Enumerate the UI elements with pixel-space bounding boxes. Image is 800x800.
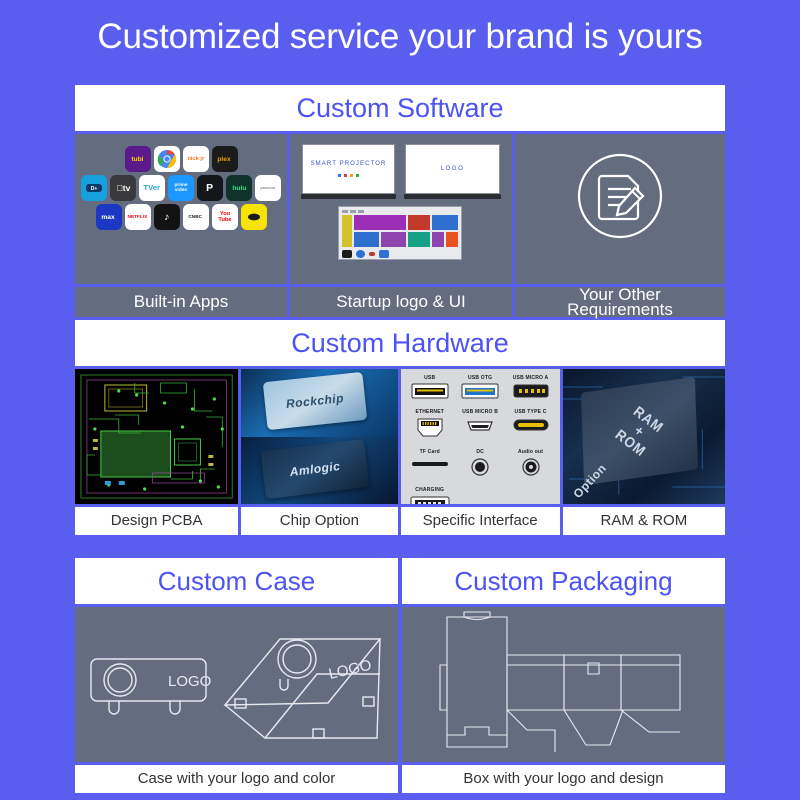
pcb-schematic	[75, 369, 238, 504]
dc-jack-icon	[469, 457, 491, 482]
ui-tile	[432, 215, 458, 230]
section-custom-software: Custom Software tubi	[75, 85, 725, 317]
chip-photo-rockchip: Rockchip	[241, 369, 397, 437]
usb-a-port-icon	[411, 383, 449, 404]
startup-screen-logo: LOGO	[405, 144, 500, 194]
ui-titlebar	[342, 210, 458, 213]
caption-built-in-apps: Built-in Apps	[75, 287, 287, 317]
ui-tile	[408, 215, 430, 230]
interface-row-1: USB USB OTG	[405, 375, 556, 404]
disney-glyph: D+	[85, 182, 103, 194]
app-label: P	[207, 183, 214, 193]
cell-specific-interface[interactable]: USB USB OTG	[401, 369, 560, 504]
startup-ui-launcher	[338, 206, 462, 260]
app-row-1: tubi	[125, 146, 238, 172]
cell-custom-case[interactable]: LOGO LOGO	[75, 607, 398, 762]
ui-tile	[354, 215, 406, 230]
port-label: USB MICRO B	[455, 409, 505, 415]
ethernet-port-icon	[415, 417, 445, 444]
port-label: CHARGING	[405, 487, 455, 493]
ram-rom-chip-text: RAM + ROM	[612, 403, 666, 459]
app-icon-disney-plus[interactable]: D+	[81, 175, 107, 201]
section-header-custom-packaging: Custom Packaging	[402, 558, 725, 604]
port-label: Audio out	[505, 449, 555, 455]
case-logo-text-front: LOGO	[168, 673, 211, 690]
interface-port-chart: USB USB OTG	[401, 369, 560, 504]
port-label: USB MICRO A	[505, 375, 555, 381]
port-ethernet: ETHERNET	[405, 409, 455, 444]
interface-row-4: CHARGING	[405, 487, 556, 504]
ui-tile	[381, 232, 406, 247]
ui-tile	[446, 232, 458, 247]
app-icon-tver[interactable]: TVer	[139, 175, 165, 201]
app-row-3: max NETFLIX ♪ CNBC You Tube	[96, 204, 267, 230]
ui-dock	[342, 250, 458, 258]
caption-specific-interface: Specific Interface	[401, 507, 560, 535]
chip-label-rockchip: Rockchip	[263, 372, 367, 430]
box-dieline-art	[402, 607, 725, 762]
app-label: You Tube	[212, 211, 237, 222]
startup-screen-smart-projector: SMART PROJECTOR	[302, 144, 395, 194]
caption-startup-logo-ui: Startup logo & UI	[290, 287, 512, 317]
app-label: NETFLIX	[128, 215, 148, 220]
app-row-2: D+ tv TVer prime video P	[81, 175, 281, 201]
port-label: USB TYPE C	[505, 409, 555, 415]
app-icon-netflix[interactable]: NETFLIX	[125, 204, 151, 230]
port-label: TF Card	[405, 449, 455, 455]
custom-hardware-cells: Rockchip Amlogic USB	[75, 369, 725, 504]
case-logo-text-top: LOGO	[327, 657, 373, 683]
section-header-custom-case: Custom Case	[75, 558, 398, 604]
port-usb-micro-a: USB MICRO A	[505, 375, 555, 404]
cell-startup-logo-ui[interactable]: SMART PROJECTOR LOGO	[290, 134, 512, 284]
app-icon-nick-jr[interactable]: nick jr	[183, 146, 209, 172]
charging-port-icon	[409, 495, 451, 504]
section-header-custom-hardware: Custom Hardware	[75, 320, 725, 366]
app-label: nick jr	[187, 156, 204, 162]
custom-software-cells: tubi	[75, 134, 725, 284]
caption-custom-case: Case with your logo and color	[75, 765, 398, 793]
app-icon-pluto-tv[interactable]: P	[197, 175, 223, 201]
app-label: hulu	[232, 185, 246, 192]
port-dc: DC	[455, 449, 505, 482]
cell-custom-packaging[interactable]	[402, 607, 725, 762]
app-label: max	[102, 214, 115, 221]
cell-chip-option[interactable]: Rockchip Amlogic	[241, 369, 397, 504]
section-custom-packaging: Custom Packaging	[402, 558, 725, 793]
pcb-artwork	[75, 369, 238, 504]
svg-text:D+: D+	[91, 186, 98, 192]
ui-tile-col	[354, 215, 406, 247]
ui-tile-col	[408, 215, 430, 247]
app-icon-sling-tv[interactable]	[241, 204, 267, 230]
caption-line-2: Requirements	[515, 302, 725, 317]
app-label: tv	[116, 184, 130, 193]
ram-rom-chip-photo: RAM + ROM Option	[563, 369, 725, 504]
ui-tile	[342, 215, 352, 247]
tf-card-slot-icon	[410, 457, 450, 475]
ui-tile-grid	[342, 215, 458, 247]
app-icon-grid: tubi	[75, 146, 287, 230]
startup-screen-text: LOGO	[441, 166, 465, 172]
port-usb: USB	[405, 375, 455, 404]
cell-your-other-requirements[interactable]	[515, 134, 725, 284]
startup-dots	[338, 174, 359, 177]
port-usb-type-c: USB TYPE C	[505, 409, 555, 444]
app-icon-tiktok[interactable]: ♪	[154, 204, 180, 230]
sling-glyph	[245, 212, 263, 222]
caption-design-pcba: Design PCBA	[75, 507, 238, 535]
screen-stand	[301, 194, 396, 199]
chip-label-amlogic: Amlogic	[261, 438, 370, 498]
app-label: TVer	[144, 184, 160, 192]
ui-tile	[432, 232, 444, 247]
port-label: ETHERNET	[405, 409, 455, 415]
caption-your-other-requirements: Your Other Requirements	[515, 287, 725, 317]
usb-otg-port-icon	[461, 383, 499, 404]
caption-custom-packaging: Box with your logo and design	[402, 765, 725, 793]
chip-photo-amlogic: Amlogic	[241, 437, 397, 505]
section-custom-case: Custom Case	[75, 558, 398, 793]
ui-tile-col	[432, 215, 458, 247]
port-tf-card: TF Card	[405, 449, 455, 482]
app-icon-youtube[interactable]: You Tube	[212, 204, 238, 230]
section-bottom-row: Custom Case	[75, 558, 725, 793]
ui-tile	[354, 232, 379, 247]
usb-micro-b-port-icon	[463, 417, 497, 440]
chrome-glyph	[157, 149, 177, 169]
caption-ram-rom: RAM & ROM	[563, 507, 725, 535]
cell-built-in-apps[interactable]: tubi	[75, 134, 287, 284]
app-label: pandora	[261, 186, 276, 190]
port-audio-out: Audio out	[505, 449, 555, 482]
cell-ram-rom[interactable]: RAM + ROM Option	[563, 369, 725, 504]
page-title: Customized service your brand is yours	[0, 16, 800, 58]
caption-chip-option: Chip Option	[241, 507, 397, 535]
custom-software-captions: Built-in Apps Startup logo & UI Your Oth…	[75, 287, 725, 317]
startup-screen-text: SMART PROJECTOR	[311, 161, 387, 167]
app-icon-prime-video[interactable]: prime video	[168, 175, 194, 201]
port-label: DC	[455, 449, 505, 455]
app-label: tubi	[131, 156, 143, 163]
usb-type-c-port-icon	[512, 417, 550, 438]
app-icon-hulu[interactable]: hulu	[226, 175, 252, 201]
interface-row-2: ETHERNET USB MICRO B	[405, 409, 556, 444]
section-custom-hardware: Custom Hardware	[75, 320, 725, 535]
port-label: USB OTG	[455, 375, 505, 381]
port-label: USB	[405, 375, 455, 381]
app-icon-apple-tv[interactable]: tv	[110, 175, 136, 201]
app-icon-pandora[interactable]: pandora	[255, 175, 281, 201]
poster-root: Customized service your brand is yours C…	[0, 0, 800, 800]
app-icon-max[interactable]: max	[96, 204, 122, 230]
app-label: prime video	[169, 183, 194, 193]
port-usb-otg: USB OTG	[455, 375, 505, 404]
section-header-custom-software: Custom Software	[75, 85, 725, 131]
app-icon-plex[interactable]: plex	[212, 146, 238, 172]
custom-hardware-captions: Design PCBA Chip Option Specific Interfa…	[75, 507, 725, 535]
projector-line-art: LOGO LOGO	[75, 607, 398, 762]
screen-stand	[404, 194, 501, 199]
port-usb-micro-b: USB MICRO B	[455, 409, 505, 444]
port-charging: CHARGING	[405, 487, 455, 504]
app-label: CNBC	[189, 215, 203, 220]
audio-out-jack-icon	[520, 457, 542, 482]
requirements-icon	[572, 148, 668, 249]
cell-design-pcba[interactable]	[75, 369, 238, 504]
document-pencil-icon	[572, 148, 668, 244]
app-label: ♪	[164, 212, 169, 222]
app-icon-chrome[interactable]	[154, 146, 180, 172]
app-icon-cnbc[interactable]: CNBC	[183, 204, 209, 230]
app-label: plex	[218, 156, 231, 163]
app-icon-tubi[interactable]: tubi	[125, 146, 151, 172]
ui-tile	[408, 232, 430, 247]
usb-micro-a-port-icon	[512, 383, 550, 404]
interface-row-3: TF Card DC	[405, 449, 556, 482]
